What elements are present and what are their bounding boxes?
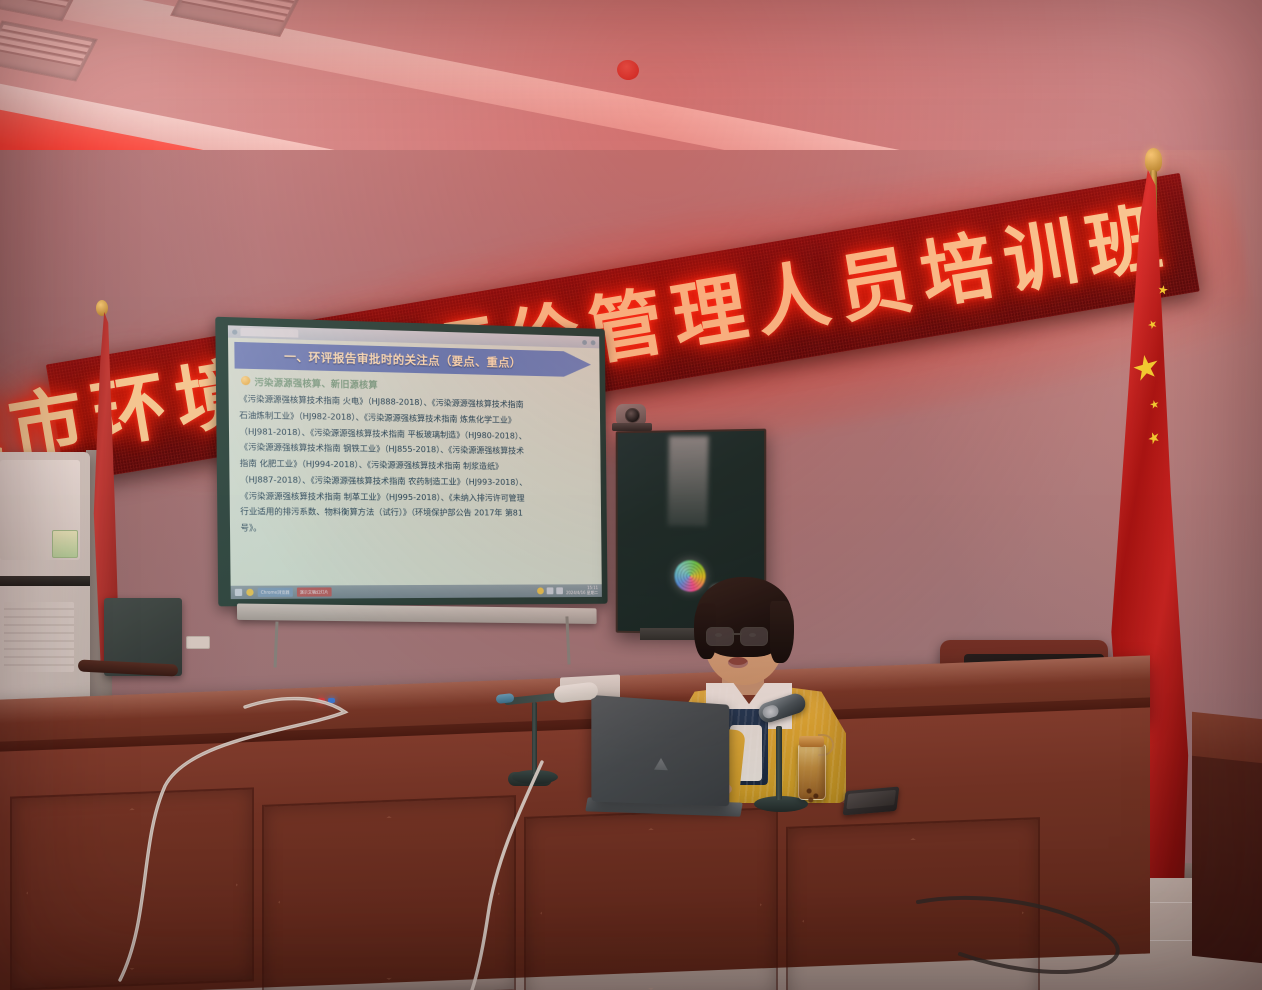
- smartphone-on-desk[interactable]: [843, 786, 900, 815]
- air-conditioner-band: [0, 576, 90, 586]
- start-button-icon[interactable]: [235, 589, 242, 596]
- air-conditioner: [0, 452, 90, 702]
- side-desk-front: [1192, 756, 1262, 964]
- network-icon[interactable]: [547, 587, 554, 594]
- projection-screen-surface: 一、环评报告审批时的关注点（要点、重点） 污染源源强核算、新旧源核算 《污染源源…: [228, 325, 602, 599]
- projection-screen: 一、环评报告审批时的关注点（要点、重点） 污染源源强核算、新旧源核算 《污染源源…: [211, 316, 625, 680]
- glasses-bridge: [732, 633, 742, 635]
- presenter-laptop[interactable]: [592, 700, 738, 818]
- desk-panel: [524, 807, 778, 990]
- status-led-blue-icon: [328, 698, 335, 703]
- tea-jar-body: [798, 744, 826, 800]
- slide-title-text: 一、环评报告审批时的关注点（要点、重点）: [234, 347, 521, 371]
- slide-title-banner: 一、环评报告审批时的关注点（要点、重点）: [234, 342, 591, 377]
- slide-bullet-row: 污染源源强核算、新旧源核算: [241, 375, 378, 391]
- projection-screen-bottom-bar: [237, 603, 597, 623]
- window-dot-icon: [232, 329, 237, 334]
- tray-icon[interactable]: [537, 587, 544, 594]
- photo-scene: 武威市环境影响评价管理人员培训班 一、环评报告审批时的关注点（要点、重点）: [0, 0, 1262, 990]
- ceiling-smoke-detector-icon: [615, 58, 640, 82]
- status-led-red-icon: [318, 698, 325, 703]
- folder-icon[interactable]: [246, 589, 253, 596]
- desk-panel: [786, 817, 1040, 990]
- volume-icon[interactable]: [556, 587, 563, 594]
- taskbar-app-chrome[interactable]: Chrome浏览器: [258, 588, 293, 597]
- browser-tab: [240, 328, 298, 338]
- chrome-window-controls: [582, 340, 595, 345]
- microphone-pole: [532, 702, 537, 774]
- laptop-lid[interactable]: [591, 695, 729, 806]
- slide-body-text: 《污染源源强核算技术指南 火电》（HJ888-2018）、《污染源源强核算技术指…: [239, 391, 592, 537]
- hair-side: [770, 601, 794, 663]
- mouth: [728, 657, 748, 668]
- presentation-slide: 一、环评报告审批时的关注点（要点、重点） 污染源源强核算、新旧源核算 《污染源源…: [228, 325, 602, 599]
- energy-label-icon: [52, 530, 78, 558]
- glasses-lens-icon: [740, 627, 768, 646]
- camera-lens-icon: [625, 408, 640, 423]
- desk-panel: [10, 787, 254, 990]
- gooseneck-conference-microphone: [498, 672, 588, 792]
- camera-body: [616, 404, 646, 424]
- desk-panel: [262, 795, 516, 990]
- slide-line: 号》。: [240, 520, 591, 537]
- glasses-lens-icon: [706, 627, 734, 646]
- ceiling-vent-icon: [0, 20, 98, 81]
- bullet-dot-icon: [241, 376, 250, 385]
- laptop-logo-icon: [654, 758, 668, 771]
- slide-line: 行业适用的排污系数、物料衡算方法（试行）》（环境保护部公告 2017年 第81: [240, 504, 591, 522]
- projection-screen-leg: [274, 621, 279, 667]
- microphone-pole: [776, 726, 782, 800]
- glass-tea-jar: [798, 734, 824, 798]
- tea-jar-lid: [799, 736, 824, 747]
- air-conditioner-vent: [4, 602, 74, 672]
- slide-bullet-text: 污染源源强核算、新旧源核算: [254, 375, 377, 391]
- microphone-head-icon: [756, 691, 808, 725]
- banner-finial-icon: [96, 300, 108, 316]
- taskbar-tray[interactable]: 15:11 2024/4/16 星期二: [537, 586, 598, 595]
- tea-leaves: [804, 785, 821, 805]
- windows-taskbar[interactable]: Chrome浏览器 演示文稿幻灯片 15:11 2024/4/16 星期二: [231, 584, 602, 599]
- tv-window-reflection: [668, 436, 709, 526]
- conference-camera-icon: [612, 404, 652, 432]
- clock-date: 2024/4/16 星期二: [566, 591, 598, 595]
- wall-outlet-icon: [186, 636, 210, 649]
- flagpole-finial-icon: [1145, 148, 1162, 172]
- taskbar-app-slides[interactable]: 演示文稿幻灯片: [297, 587, 332, 596]
- close-icon: [591, 340, 596, 345]
- taskbar-clock[interactable]: 15:11 2024/4/16 星期二: [566, 586, 598, 595]
- minimize-icon: [582, 340, 587, 345]
- projection-screen-frame: 一、环评报告审批时的关注点（要点、重点） 污染源源强核算、新旧源核算 《污染源源…: [215, 317, 607, 607]
